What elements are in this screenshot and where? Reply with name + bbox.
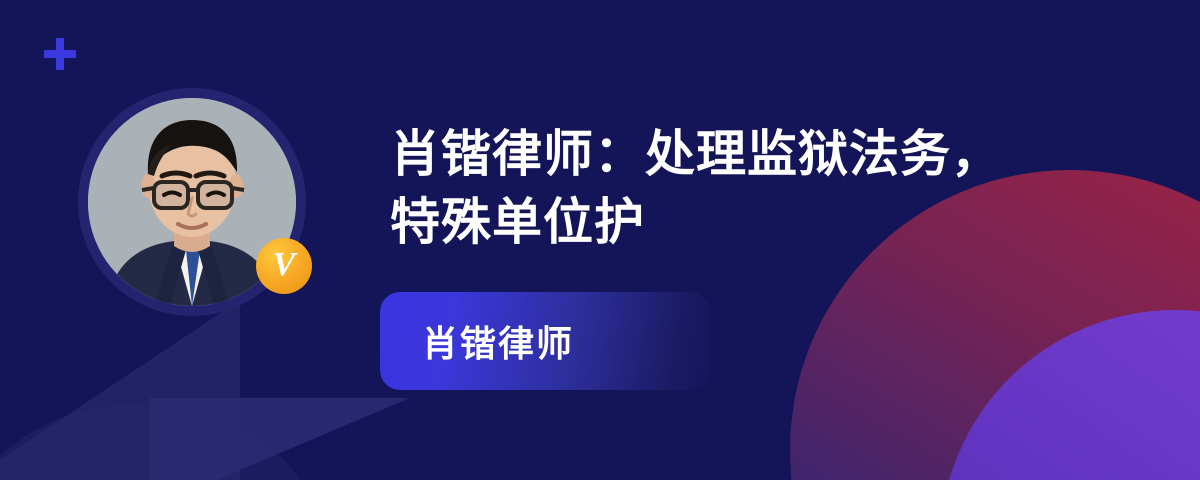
promo-banner: V 肖锴律师：处理监狱法务，特殊单位护 肖锴律师 [0,0,1200,480]
page-title: 肖锴律师：处理监狱法务，特殊单位护 [390,120,1030,256]
banner-content: 肖锴律师：处理监狱法务，特殊单位护 [390,120,1030,256]
decorative-triangle-left [0,300,240,480]
verified-badge-icon: V [256,238,312,294]
avatar: V [78,88,306,316]
decorative-arc-inner [940,310,1200,480]
verified-badge-glyph: V [273,248,296,282]
decorative-triangle-mid [150,398,410,480]
plus-icon [42,36,78,72]
lawyer-profile-button[interactable]: 肖锴律师 [380,292,710,390]
decorative-blob-left [0,404,320,480]
